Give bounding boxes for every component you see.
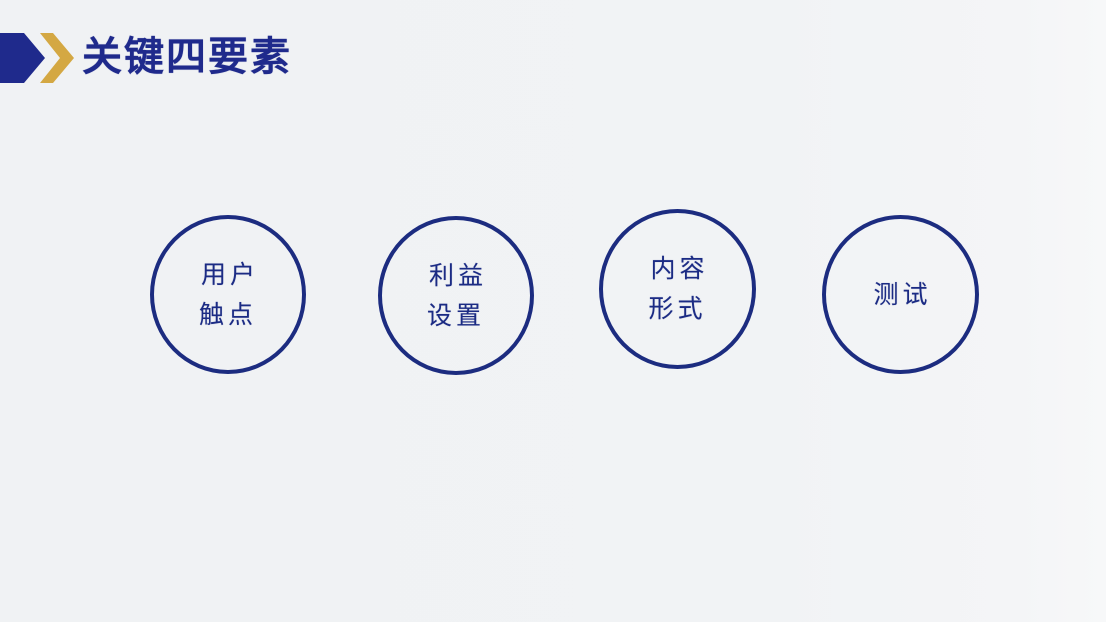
element-circle-content-format[interactable]: 内容 形式 <box>599 209 756 369</box>
four-elements-diagram: 用户 触点 利益 设置 内容 形式 测试 <box>0 0 1106 622</box>
element-circle-label: 测试 <box>869 275 931 315</box>
element-circle-label: 利益 设置 <box>425 256 487 336</box>
element-circle-testing[interactable]: 测试 <box>822 215 979 374</box>
element-circle-label: 用户 触点 <box>197 255 259 335</box>
presentation-slide: 关键四要素 用户 触点 利益 设置 内容 形式 测试 <box>0 0 1106 622</box>
element-circle-user-touchpoint[interactable]: 用户 触点 <box>150 215 306 374</box>
element-circle-benefit-setting[interactable]: 利益 设置 <box>378 216 534 375</box>
element-circle-label: 内容 形式 <box>646 249 708 329</box>
